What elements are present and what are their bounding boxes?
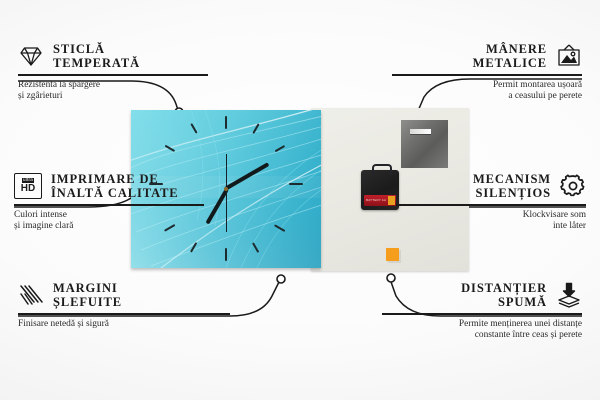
feature-subtitle-line2: inte låter (396, 221, 586, 232)
endpoint-edges (277, 275, 285, 283)
feature-subtitle-line1: Finisare netedă și sigură (18, 319, 230, 330)
feature-metal-handles[interactable]: MÂNERE METALICE Permit montarea ușoară a… (392, 42, 582, 102)
feature-title: MÂNERE METALICE (473, 42, 547, 70)
divider (396, 204, 586, 206)
hour-tick (225, 248, 227, 261)
feature-subtitle-line1: Rezistentă la spargere (18, 80, 208, 91)
feature-subtitle-line1: Culori intense (14, 210, 204, 221)
feature-subtitle-line2: a ceasului pe perete (392, 91, 582, 102)
feature-header: DISTANȚIER SPUMĂ (382, 281, 582, 309)
feature-foam-spacer[interactable]: DISTANȚIER SPUMĂ Permite menținerea unei… (382, 281, 582, 341)
feature-header: ultra HD IMPRIMARE DE ÎNALTĂ CALITATE (14, 172, 204, 200)
feature-title: DISTANȚIER SPUMĂ (461, 281, 547, 309)
divider (382, 313, 582, 315)
divider (392, 74, 582, 76)
hand-pin (224, 187, 228, 191)
hour-tick (289, 183, 303, 185)
feature-high-quality-print[interactable]: ultra HD IMPRIMARE DE ÎNALTĂ CALITATE Cu… (14, 172, 204, 232)
feature-subtitle-line1: Klockvisare som (396, 210, 586, 221)
second-hand (226, 154, 227, 232)
feature-polished-edges[interactable]: MARGINI ȘLEFUITE Finisare netedă și sigu… (18, 281, 230, 330)
layers-down-arrow-icon (556, 282, 582, 308)
metal-hanger-plate (401, 120, 448, 168)
divider (18, 74, 208, 76)
gear-icon (560, 173, 586, 199)
mechanism-hook (372, 164, 392, 175)
infographic-canvas: BATTERY AA (0, 0, 600, 400)
battery-label: BATTERY AA (366, 198, 386, 202)
feature-header: MÂNERE METALICE (392, 42, 582, 70)
hanger-slot (410, 129, 431, 134)
feature-header: MECANISM SILENȚIOS (396, 172, 586, 200)
diamond-icon (18, 43, 44, 69)
hour-tick (225, 116, 227, 129)
feature-title: STICLĂ TEMPERATĂ (53, 42, 140, 70)
hatch-lines-icon (18, 282, 44, 308)
battery-terminal (388, 196, 395, 205)
clock-mechanism-box: BATTERY AA (361, 170, 399, 210)
divider (14, 204, 204, 206)
feature-silent-mechanism[interactable]: MECANISM SILENȚIOS Klockvisare som inte … (396, 172, 586, 232)
feature-subtitle-line2: și imagine clară (14, 221, 204, 232)
feature-subtitle-line1: Permit montarea ușoară (392, 80, 582, 91)
feature-header: MARGINI ȘLEFUITE (18, 281, 230, 309)
feature-subtitle-line2: și zgârieturi (18, 91, 208, 102)
ultra-hd-large-label: HD (21, 184, 35, 194)
feature-tempered-glass[interactable]: STICLĂ TEMPERATĂ Rezistentă la spargere … (18, 42, 208, 102)
feature-title: MARGINI ȘLEFUITE (53, 281, 122, 309)
foam-spacer-pad (386, 248, 399, 261)
feature-subtitle-line1: Permite menținerea unei distanțe (382, 319, 582, 330)
feature-title: MECANISM SILENȚIOS (473, 172, 551, 200)
feature-header: STICLĂ TEMPERATĂ (18, 42, 208, 70)
ultra-hd-icon: ultra HD (14, 173, 42, 199)
framed-picture-icon (556, 43, 582, 69)
feature-subtitle-line2: constante între ceas și perete (382, 330, 582, 341)
divider (18, 313, 230, 315)
feature-title: IMPRIMARE DE ÎNALTĂ CALITATE (51, 172, 179, 200)
battery: BATTERY AA (364, 195, 396, 206)
